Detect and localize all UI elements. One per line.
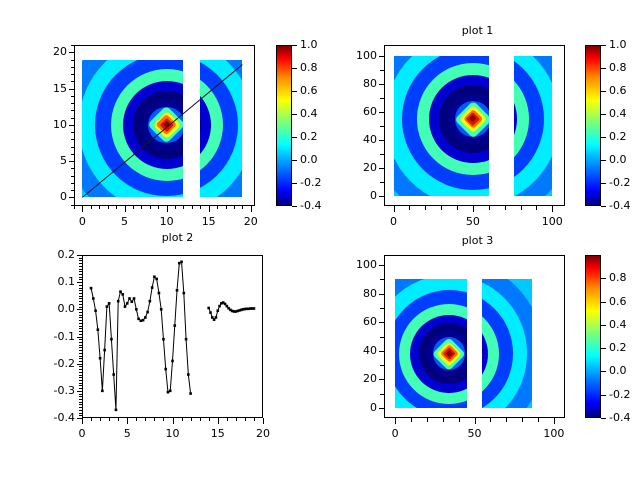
ytick-minor [79,337,82,338]
ytick-minor [79,301,82,302]
data-point-marker [185,338,188,341]
ytick-minor [71,132,74,133]
ytick-minor [79,399,82,400]
ytick-minor [79,350,82,351]
ytick-minor [79,277,82,278]
ytick-minor [79,285,82,286]
data-point-marker [130,300,133,303]
xtick-minor [116,206,117,209]
xtick-minor [554,418,555,422]
data-point-marker [97,328,100,331]
ytick-minor [71,147,74,148]
xtick-minor [163,418,164,421]
data-point-marker [207,307,210,310]
ytick-minor [79,380,82,381]
xtick-minor [552,206,553,210]
ytick-minor [79,418,82,419]
xtick-minor [150,206,151,209]
data-point-marker [140,319,143,322]
data-point-marker [178,262,181,265]
ytick-minor [380,279,384,280]
ytick-minor [79,317,82,318]
ytick-minor [71,176,74,177]
ytick-minor [79,383,82,384]
ytick-label: 0.0 [34,303,75,314]
colorbar-tick [292,91,297,92]
heatmap-tile [482,279,531,408]
data-point-marker [183,292,186,295]
xtick-minor [506,418,507,422]
xtick-minor [443,418,444,422]
colorbar-tick-label: -0.4 [609,412,630,423]
figure-canvas: 05101520 05101520 1.00.80.60.40.20.0-0.2… [0,0,640,480]
ytick-minor [79,323,82,324]
ytick-minor [79,296,82,297]
ytick-minor [79,258,82,259]
ytick-minor [79,361,82,362]
ytick-minor [79,410,82,411]
ytick-minor [79,369,82,370]
panel-bottom-right-title: plot 3 [380,235,575,247]
data-point-marker [149,300,152,303]
ytick-minor [79,274,82,275]
ytick-label: 60 [336,316,377,327]
ytick-minor [380,394,384,395]
ytick-minor [71,118,74,119]
xtick-minor [538,418,539,422]
ytick-minor [380,294,384,295]
ytick-minor [79,402,82,403]
xtick-minor [118,418,119,421]
xtick-minor [125,206,126,209]
xtick-minor [154,418,155,421]
ytick-minor [79,391,82,392]
ytick-minor [380,70,384,71]
data-point-marker [112,373,115,376]
ytick-label: -0.1 [34,331,75,342]
ytick-minor [380,365,384,366]
xtick-minor [522,418,523,422]
ytick-minor [79,290,82,291]
ytick-minor [79,312,82,313]
ytick-minor [79,404,82,405]
ytick-minor [380,182,384,183]
ytick-minor [71,110,74,111]
ytick-minor [380,84,384,85]
colorbar-tick [292,206,297,207]
ytick-minor [79,331,82,332]
data-point-marker [180,260,183,263]
xtick-minor [108,206,109,209]
heatmap-tile [395,279,466,408]
ytick-minor [71,89,74,90]
xtick-minor [91,206,92,209]
ytick-minor [380,112,384,113]
ytick-minor [79,394,82,395]
data-point-marker [124,305,127,308]
ytick-minor [79,413,82,414]
colorbar-tick [601,91,606,92]
ytick-minor [71,45,74,46]
xtick-minor [263,418,264,421]
colorbar-bottom-right [585,255,601,418]
xtick-minor [217,206,218,209]
xtick-minor [245,418,246,421]
colorbar-tick [601,160,606,161]
xtick-minor [490,418,491,422]
xtick-minor [209,206,210,209]
ytick-minor [71,81,74,82]
xtick-minor [100,418,101,421]
xtick-minor [167,206,168,209]
ytick-minor [71,168,74,169]
ytick-minor [79,315,82,316]
ytick-minor [380,322,384,323]
colorbar-tick [601,137,606,138]
data-point-marker [101,390,104,393]
ytick-minor [71,103,74,104]
xtick-minor [91,418,92,421]
xtick-minor [82,206,83,209]
colorbar-tick [601,302,606,303]
xtick-minor [127,418,128,421]
data-point-marker [106,305,109,308]
ytick-minor [71,60,74,61]
ytick-label: 0 [336,402,377,413]
ytick-minor [71,154,74,155]
ytick-minor [380,168,384,169]
data-point-marker [133,297,136,300]
data-point-marker [110,338,113,341]
ytick-label: -0.3 [34,385,75,396]
data-point-marker [253,307,256,310]
data-point-marker [144,316,147,319]
data-point-marker [218,305,221,308]
colorbar-tick [601,183,606,184]
ytick-minor [79,298,82,299]
ytick-minor [79,263,82,264]
xtick-minor [489,206,490,210]
xtick-minor [242,206,243,209]
ytick-label: 0.1 [34,276,75,287]
ytick-minor [79,375,82,376]
xtick-minor [226,206,227,209]
ytick-label: 80 [336,288,377,299]
ytick-minor [79,320,82,321]
line-path [91,262,191,410]
ytick-minor [71,74,74,75]
xtick-minor [182,418,183,421]
data-point-marker [176,289,179,292]
colorbar-tick [601,418,606,419]
data-point-marker [126,302,129,305]
data-point-marker [167,391,170,394]
data-point-marker [137,318,140,321]
xtick-minor [505,206,506,210]
ytick-minor [79,339,82,340]
colorbar-tick [601,325,606,326]
colorbar-tick [292,68,297,69]
ytick-minor [79,260,82,261]
ytick-minor [380,154,384,155]
ytick-minor [79,342,82,343]
xtick-minor [394,206,395,210]
data-point-marker [153,275,156,278]
xtick-label: 0 [375,428,415,439]
ytick-minor [79,293,82,294]
data-point-marker [135,308,138,311]
data-point-marker [115,409,118,412]
data-point-marker [173,324,176,327]
colorbar-tick [601,278,606,279]
ytick-label: 0.2 [34,249,75,260]
data-point-marker [90,287,93,290]
xtick-minor [133,206,134,209]
xtick-label: 15 [198,428,238,439]
colorbar-tick [601,371,606,372]
colorbar-tick-label: 0.2 [609,342,627,353]
ytick-minor [79,356,82,357]
heatmap-tile [82,60,183,198]
xtick-minor [218,418,219,421]
xtick-minor [173,418,174,421]
colorbar-tick [601,395,606,396]
xtick-minor [236,418,237,421]
ytick-minor [79,345,82,346]
xtick-minor [209,418,210,421]
xtick-minor [192,206,193,209]
ytick-minor [79,282,82,283]
xtick-minor [254,418,255,421]
xtick-minor [82,418,83,421]
xtick-minor [200,206,201,209]
colorbar-tick-label: 0.0 [609,365,627,376]
colorbar-tick [601,114,606,115]
ytick-minor [380,196,384,197]
ytick-minor [380,408,384,409]
xtick-label: 100 [534,428,574,439]
xtick-label: 10 [153,428,193,439]
xtick-minor [427,418,428,422]
xtick-minor [109,418,110,421]
ytick-label: -0.4 [34,412,75,423]
colorbar-tick [601,206,606,207]
heatmap-tile [514,56,552,196]
ytick-minor [380,126,384,127]
data-point-marker [94,309,97,312]
xtick-label: 5 [107,428,147,439]
colorbar-tick [601,45,606,46]
ytick-label: 20 [336,373,377,384]
data-point-marker [155,278,158,281]
data-point-marker [164,368,167,371]
ytick-minor [79,366,82,367]
ytick-minor [71,96,74,97]
ytick-minor [71,161,74,162]
ytick-minor [380,351,384,352]
data-point-marker [171,360,174,363]
ytick-minor [79,266,82,267]
xtick-minor [409,206,410,210]
xtick-minor [475,418,476,422]
xtick-minor [183,206,184,209]
ytick-minor [79,271,82,272]
colorbar-tick [292,160,297,161]
ytick-minor [380,337,384,338]
ytick-minor [79,377,82,378]
ytick-minor [380,56,384,57]
ytick-minor [79,255,82,256]
ytick-minor [71,52,74,53]
data-point-marker [160,308,163,311]
data-point-marker [142,319,145,322]
xtick-minor [395,418,396,422]
ytick-minor [79,326,82,327]
xtick-minor [459,418,460,422]
data-point-marker [151,286,154,289]
xtick-minor [536,206,537,210]
colorbar-tick [601,348,606,349]
ytick-minor [71,205,74,206]
xtick-minor [251,206,252,209]
ytick-minor [79,279,82,280]
xtick-label: 20 [243,428,283,439]
ytick-minor [79,364,82,365]
data-point-marker [103,349,106,352]
xtick-minor [99,206,100,209]
colorbar-tick [292,114,297,115]
ytick-minor [380,98,384,99]
ytick-minor [79,309,82,310]
ytick-label: 40 [336,345,377,356]
xtick-minor [473,206,474,210]
ytick-minor [79,307,82,308]
heatmap-tile [394,56,489,196]
xtick-minor [175,206,176,209]
data-point-marker [215,316,218,319]
xtick-minor [141,206,142,209]
ytick-label: 100 [336,259,377,270]
data-point-marker [108,302,111,305]
xtick-minor [227,418,228,421]
ytick-minor [71,67,74,68]
data-point-marker [158,292,161,295]
xtick-minor [457,206,458,210]
ytick-minor [380,265,384,266]
colorbar-tick-label: -0.2 [609,389,630,400]
data-point-marker [119,290,122,293]
data-point-marker [216,309,219,312]
colorbar-tick [292,137,297,138]
data-point-marker [146,311,149,314]
data-point-marker [99,357,102,360]
colorbar-tick [292,183,297,184]
ytick-minor [79,396,82,397]
xtick-label: 0 [62,428,102,439]
data-point-marker [121,293,124,296]
ytick-minor [79,334,82,335]
ytick-minor [71,197,74,198]
xtick-minor [234,206,235,209]
data-point-marker [92,297,95,300]
ytick-label: -0.2 [34,358,75,369]
xtick-minor [145,418,146,421]
ytick-minor [79,407,82,408]
ytick-minor [71,183,74,184]
ytick-minor [380,308,384,309]
xtick-minor [158,206,159,209]
xtick-minor [136,418,137,421]
data-point-marker [209,311,212,314]
xtick-label: 50 [455,428,495,439]
ytick-minor [79,304,82,305]
ytick-minor [79,385,82,386]
ytick-minor [79,358,82,359]
ytick-minor [79,328,82,329]
data-point-marker [128,297,131,300]
data-point-marker [117,300,120,303]
xtick-minor [521,206,522,210]
ytick-minor [79,269,82,270]
data-point-marker [189,392,192,395]
ytick-minor [79,288,82,289]
colorbar-tick-label: 0.8 [609,272,627,283]
ytick-minor [380,140,384,141]
colorbar-tick [292,45,297,46]
ytick-minor [79,415,82,416]
xtick-minor [411,418,412,422]
ytick-minor [79,353,82,354]
ytick-minor [71,190,74,191]
ytick-minor [71,125,74,126]
ytick-minor [79,347,82,348]
xtick-minor [191,418,192,421]
ytick-minor [79,388,82,389]
colorbar-tick [601,68,606,69]
colorbar-tick-label: 0.6 [609,296,627,307]
data-point-marker [162,338,165,341]
colorbar-tick-label: 0.4 [609,319,627,330]
xtick-minor [200,418,201,421]
data-point-marker [169,390,172,393]
data-point-marker [187,373,190,376]
ytick-minor [71,139,74,140]
ytick-minor [380,379,384,380]
ytick-minor [79,372,82,373]
xtick-minor [441,206,442,210]
xtick-minor [74,206,75,209]
xtick-minor [425,206,426,210]
